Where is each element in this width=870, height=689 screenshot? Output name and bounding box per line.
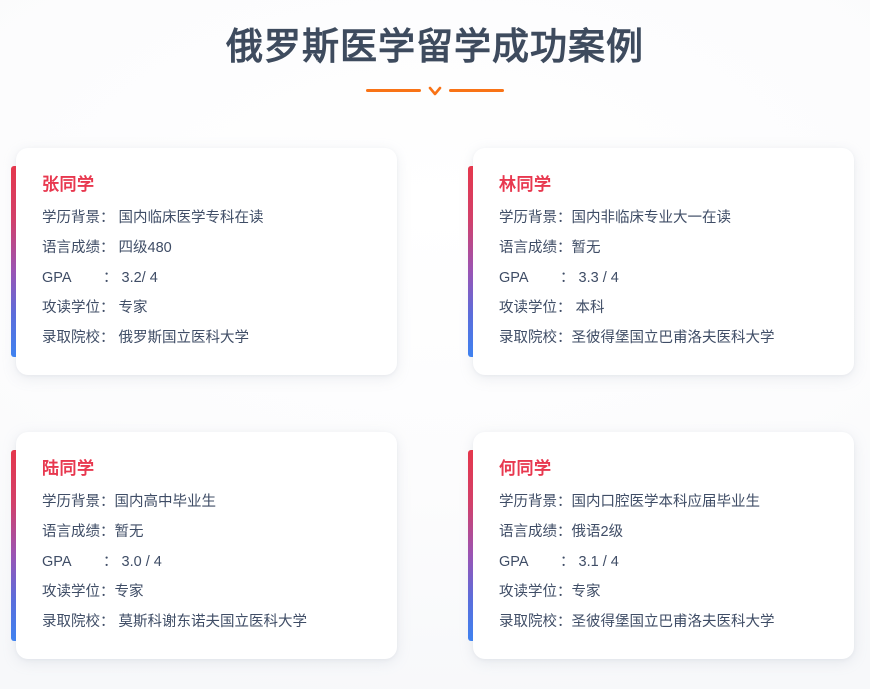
student-details: 学历背景： 国内高中毕业生 语言成绩： 暂无 GPA ： 3.0 / 4 攻读学… bbox=[42, 492, 375, 633]
detail-value: 四级480 bbox=[115, 238, 376, 259]
detail-label: GPA ： bbox=[42, 552, 117, 573]
title-divider bbox=[355, 79, 515, 101]
detail-value: 专家 bbox=[115, 582, 376, 603]
detail-value: 俄语2级 bbox=[572, 522, 833, 543]
detail-label: 攻读学位： bbox=[499, 582, 572, 603]
detail-row-education: 学历背景： 国内高中毕业生 bbox=[42, 492, 375, 513]
detail-row-university: 录取院校： 俄罗斯国立医科大学 bbox=[42, 328, 375, 349]
detail-value: 国内高中毕业生 bbox=[115, 492, 376, 513]
detail-value: 圣彼得堡国立巴甫洛夫医科大学 bbox=[572, 612, 833, 633]
detail-row-education: 学历背景： 国内口腔医学本科应届毕业生 bbox=[499, 492, 832, 513]
detail-row-gpa: GPA ： 3.0 / 4 bbox=[42, 552, 375, 573]
card-accent-bar bbox=[468, 166, 473, 357]
detail-label: 语言成绩： bbox=[499, 522, 572, 543]
detail-value: 3.2/ 4 bbox=[117, 268, 375, 289]
detail-label: 录取院校： bbox=[499, 328, 572, 349]
detail-row-education: 学历背景： 国内临床医学专科在读 bbox=[42, 208, 375, 229]
detail-label: 攻读学位： bbox=[499, 298, 572, 319]
card-accent-bar bbox=[468, 450, 473, 641]
detail-row-language: 语言成绩： 俄语2级 bbox=[499, 522, 832, 543]
detail-label: 学历背景： bbox=[499, 492, 572, 513]
detail-label: 语言成绩： bbox=[499, 238, 572, 259]
student-name: 张同学 bbox=[42, 174, 375, 196]
detail-row-degree: 攻读学位： 专家 bbox=[42, 298, 375, 319]
detail-row-gpa: GPA ： 3.3 / 4 bbox=[499, 268, 832, 289]
page-title: 俄罗斯医学留学成功案例 bbox=[0, 24, 870, 70]
chevron-down-icon bbox=[428, 84, 442, 98]
detail-row-degree: 攻读学位： 专家 bbox=[42, 582, 375, 603]
detail-value: 暂无 bbox=[115, 522, 376, 543]
detail-label: GPA ： bbox=[499, 268, 574, 289]
divider-line-left bbox=[366, 89, 421, 92]
case-card[interactable]: 陆同学 学历背景： 国内高中毕业生 语言成绩： 暂无 GPA ： 3.0 / 4… bbox=[16, 432, 397, 659]
student-name: 何同学 bbox=[499, 458, 832, 480]
detail-row-degree: 攻读学位： 专家 bbox=[499, 582, 832, 603]
detail-row-language: 语言成绩： 四级480 bbox=[42, 238, 375, 259]
page-root: 俄罗斯医学留学成功案例 张同学 学历背景： 国内临床医学专科在读 语言成 bbox=[0, 0, 870, 689]
detail-label: 语言成绩： bbox=[42, 238, 115, 259]
detail-row-education: 学历背景： 国内非临床专业大一在读 bbox=[499, 208, 832, 229]
detail-value: 圣彼得堡国立巴甫洛夫医科大学 bbox=[572, 328, 833, 349]
detail-label: 学历背景： bbox=[499, 208, 572, 229]
case-card[interactable]: 张同学 学历背景： 国内临床医学专科在读 语言成绩： 四级480 GPA ： 3… bbox=[16, 148, 397, 375]
student-details: 学历背景： 国内口腔医学本科应届毕业生 语言成绩： 俄语2级 GPA ： 3.1… bbox=[499, 492, 832, 633]
detail-value: 3.0 / 4 bbox=[117, 552, 375, 573]
detail-row-degree: 攻读学位： 本科 bbox=[499, 298, 832, 319]
detail-value: 俄罗斯国立医科大学 bbox=[115, 328, 376, 349]
detail-label: 录取院校： bbox=[499, 612, 572, 633]
case-cards-grid: 张同学 学历背景： 国内临床医学专科在读 语言成绩： 四级480 GPA ： 3… bbox=[0, 148, 870, 659]
detail-value: 3.3 / 4 bbox=[574, 268, 832, 289]
detail-value: 国内非临床专业大一在读 bbox=[572, 208, 833, 229]
case-card[interactable]: 林同学 学历背景： 国内非临床专业大一在读 语言成绩： 暂无 GPA ： 3.3… bbox=[473, 148, 854, 375]
detail-value: 3.1 / 4 bbox=[574, 552, 832, 573]
detail-value: 专家 bbox=[572, 582, 833, 603]
detail-row-university: 录取院校： 圣彼得堡国立巴甫洛夫医科大学 bbox=[499, 328, 832, 349]
detail-label: GPA ： bbox=[42, 268, 117, 289]
card-accent-bar bbox=[11, 166, 16, 357]
detail-value: 本科 bbox=[572, 298, 833, 319]
detail-label: 学历背景： bbox=[42, 492, 115, 513]
card-accent-bar bbox=[11, 450, 16, 641]
detail-row-language: 语言成绩： 暂无 bbox=[42, 522, 375, 543]
detail-row-university: 录取院校： 莫斯科谢东诺夫国立医科大学 bbox=[42, 612, 375, 633]
detail-value: 莫斯科谢东诺夫国立医科大学 bbox=[115, 612, 376, 633]
detail-value: 国内临床医学专科在读 bbox=[115, 208, 376, 229]
student-name: 林同学 bbox=[499, 174, 832, 196]
detail-row-university: 录取院校： 圣彼得堡国立巴甫洛夫医科大学 bbox=[499, 612, 832, 633]
detail-value: 国内口腔医学本科应届毕业生 bbox=[572, 492, 833, 513]
detail-label: 录取院校： bbox=[42, 328, 115, 349]
detail-label: 攻读学位： bbox=[42, 298, 115, 319]
student-name: 陆同学 bbox=[42, 458, 375, 480]
detail-row-gpa: GPA ： 3.2/ 4 bbox=[42, 268, 375, 289]
detail-label: GPA ： bbox=[499, 552, 574, 573]
student-details: 学历背景： 国内临床医学专科在读 语言成绩： 四级480 GPA ： 3.2/ … bbox=[42, 208, 375, 349]
detail-label: 语言成绩： bbox=[42, 522, 115, 543]
detail-label: 录取院校： bbox=[42, 612, 115, 633]
case-card[interactable]: 何同学 学历背景： 国内口腔医学本科应届毕业生 语言成绩： 俄语2级 GPA ：… bbox=[473, 432, 854, 659]
detail-row-gpa: GPA ： 3.1 / 4 bbox=[499, 552, 832, 573]
divider-line-right bbox=[449, 89, 504, 92]
detail-value: 暂无 bbox=[572, 238, 833, 259]
student-details: 学历背景： 国内非临床专业大一在读 语言成绩： 暂无 GPA ： 3.3 / 4… bbox=[499, 208, 832, 349]
detail-value: 专家 bbox=[115, 298, 376, 319]
detail-label: 学历背景： bbox=[42, 208, 115, 229]
detail-label: 攻读学位： bbox=[42, 582, 115, 603]
page-header: 俄罗斯医学留学成功案例 bbox=[0, 0, 870, 101]
detail-row-language: 语言成绩： 暂无 bbox=[499, 238, 832, 259]
